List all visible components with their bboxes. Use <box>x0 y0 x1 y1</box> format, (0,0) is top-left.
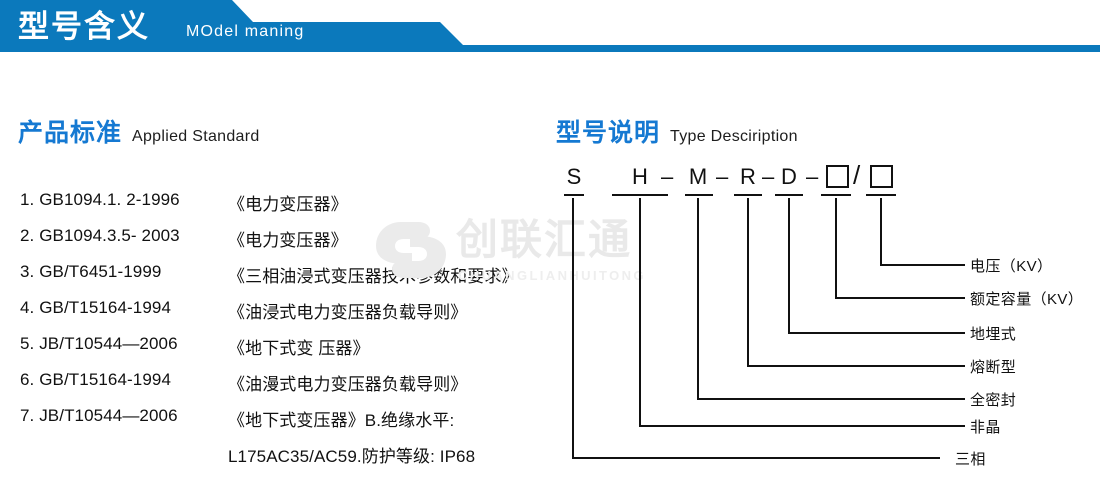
page-header-banner: 型号含义 MOdel maning <box>0 0 1100 56</box>
standards-heading-en: Applied Standard <box>132 128 260 145</box>
type-heading-cn: 型号说明 <box>556 119 660 147</box>
banner-subtitle: MOdel maning <box>186 20 304 44</box>
standard-item: 1. GB1094.1. 2-1996 《电力变压器》 <box>20 190 550 226</box>
legend-label-rated-capacity: 额定容量（KV） <box>970 288 1083 309</box>
standard-title: L175AC35/AC59.防护等级: IP68 <box>228 442 475 467</box>
model-meaning-page: 型号含义 MOdel maning 产品标准Applied Standard 1… <box>0 0 1100 497</box>
standard-title: 《地下式变压器》B.绝缘水平: <box>228 406 454 431</box>
standards-heading-cn: 产品标准 <box>18 119 122 147</box>
standard-title: 《电力变压器》 <box>228 190 348 215</box>
standard-code: 5. JB/T10544—2006 <box>20 334 178 354</box>
standard-item: 7. JB/T10544—2006 《地下式变压器》B.绝缘水平: <box>20 406 550 442</box>
standard-code: 1. GB1094.1. 2-1996 <box>20 190 180 210</box>
standard-title: 《地下式变 压器》 <box>228 334 370 359</box>
standards-section-heading: 产品标准Applied Standard <box>18 113 260 149</box>
standards-list: 1. GB1094.1. 2-1996 《电力变压器》 2. GB1094.3.… <box>20 190 550 478</box>
banner-background-shape <box>0 0 1100 56</box>
legend-label-buried-type: 地埋式 <box>970 323 1016 344</box>
banner-title: 型号含义 <box>18 4 150 50</box>
standard-item: 6. GB/T15164-1994 《油漫式电力变压器负载导则》 <box>20 370 550 406</box>
standard-title: 《油浸式电力变压器负载导则》 <box>228 298 467 323</box>
standard-code: 4. GB/T15164-1994 <box>20 298 171 318</box>
standard-code: 3. GB/T6451-1999 <box>20 262 161 282</box>
standard-item: 2. GB1094.3.5- 2003 《电力变压器》 <box>20 226 550 262</box>
standard-title: 《油漫式电力变压器负载导则》 <box>228 370 467 395</box>
legend-label-fully-sealed: 全密封 <box>970 389 1016 410</box>
type-code-diagram: S H – M – R – D – / <box>540 150 1100 497</box>
standard-item: 4. GB/T15164-1994 《油浸式电力变压器负载导则》 <box>20 298 550 334</box>
standard-code: 6. GB/T15164-1994 <box>20 370 171 390</box>
legend-label-fuse-type: 熔断型 <box>970 356 1016 377</box>
legend-label-amorphous: 非晶 <box>970 416 1001 437</box>
standard-item: 3. GB/T6451-1999 《三相油浸式变压器技术参数和要求》 <box>20 262 550 298</box>
standard-code: 2. GB1094.3.5- 2003 <box>20 226 180 246</box>
standard-item: 5. JB/T10544—2006 《地下式变 压器》 <box>20 334 550 370</box>
standard-code: 7. JB/T10544—2006 <box>20 406 178 426</box>
type-heading-en: Type Desciription <box>670 128 798 145</box>
standard-title: 《电力变压器》 <box>228 226 348 251</box>
legend-label-three-phase: 三相 <box>955 448 986 469</box>
standard-item-continuation: L175AC35/AC59.防护等级: IP68 <box>20 442 550 478</box>
type-section-heading: 型号说明Type Desciription <box>556 113 798 149</box>
legend-label-voltage: 电压（KV） <box>970 255 1052 276</box>
standard-title: 《三相油浸式变压器技术参数和要求》 <box>228 262 519 287</box>
